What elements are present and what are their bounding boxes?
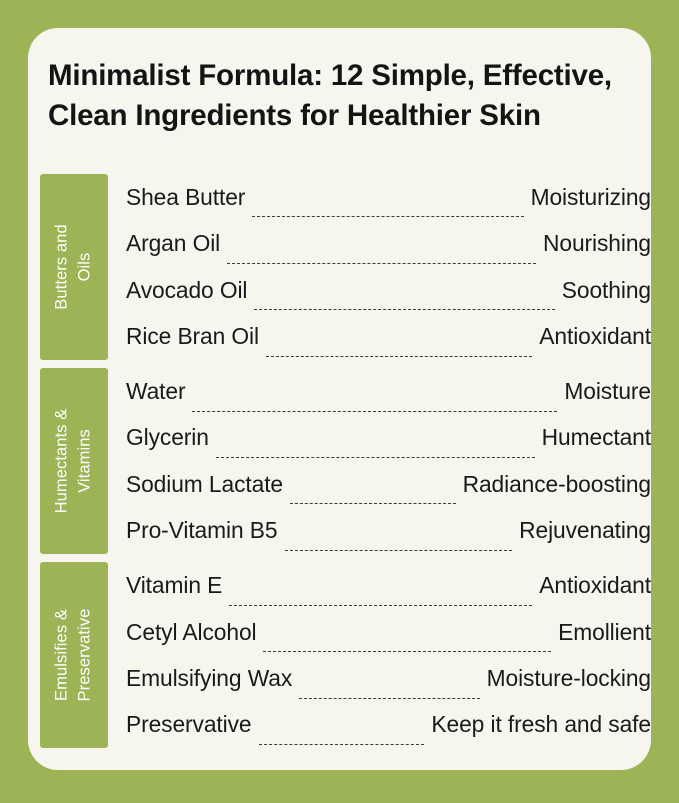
group-band-3: Emulsifies &Preservative <box>40 562 108 748</box>
ingredient-benefit: Moisture-locking <box>487 667 651 690</box>
ingredient-row: Argan OilNourishing <box>126 220 651 266</box>
ingredient-group: Emulsifies &PreservativeVitamin EAntioxi… <box>28 562 651 748</box>
group-label-line: Vitamins <box>74 409 97 514</box>
ingredient-row: PreservativeKeep it fresh and safe <box>126 702 651 748</box>
ingredient-row: Vitamin EAntioxidant <box>126 562 651 608</box>
group-label: Humectants &Vitamins <box>51 409 98 514</box>
dotted-leader <box>229 587 532 609</box>
ingredient-row: Sodium LactateRadiance-boosting <box>126 461 651 507</box>
ingredient-name: Vitamin E <box>126 574 222 597</box>
ingredient-benefit: Antioxidant <box>539 574 651 597</box>
ingredient-benefit: Moisture <box>564 380 651 403</box>
ingredient-row: WaterMoisture <box>126 368 651 414</box>
ingredient-name: Sodium Lactate <box>126 473 283 496</box>
ingredient-rows: WaterMoistureGlycerinHumectantSodium Lac… <box>126 368 651 554</box>
ingredient-benefit: Keep it fresh and safe <box>431 713 651 736</box>
dotted-leader <box>227 245 536 267</box>
ingredient-row: GlycerinHumectant <box>126 415 651 461</box>
ingredient-row: Avocado OilSoothing <box>126 267 651 313</box>
ingredient-groups: Butters andOilsShea ButterMoisturizingAr… <box>28 174 651 770</box>
ingredient-benefit: Rejuvenating <box>519 519 651 542</box>
ingredient-name: Avocado Oil <box>126 279 247 302</box>
ingredient-name: Water <box>126 380 185 403</box>
ingredient-rows: Shea ButterMoisturizingArgan OilNourishi… <box>126 174 651 360</box>
ingredient-benefit: Humectant <box>542 426 651 449</box>
dotted-leader <box>285 532 513 554</box>
group-label-line: Oils <box>74 224 97 310</box>
ingredient-name: Emulsifying Wax <box>126 667 292 690</box>
ingredient-row: Shea ButterMoisturizing <box>126 174 651 220</box>
ingredient-name: Glycerin <box>126 426 209 449</box>
dotted-leader <box>290 485 456 507</box>
ingredient-row: Cetyl AlcoholEmollient <box>126 609 651 655</box>
group-label-line: Humectants & <box>51 409 74 514</box>
ingredient-benefit: Emollient <box>558 621 651 644</box>
ingredient-name: Pro-Vitamin B5 <box>126 519 278 542</box>
dotted-leader <box>192 393 557 415</box>
ingredient-row: Emulsifying WaxMoisture-locking <box>126 655 651 701</box>
dotted-leader <box>266 338 532 360</box>
ingredient-row: Rice Bran OilAntioxidant <box>126 313 651 359</box>
ingredient-benefit: Antioxidant <box>539 325 651 348</box>
group-label-line: Emulsifies & <box>51 609 74 702</box>
dotted-leader <box>252 198 523 220</box>
ingredient-name: Cetyl Alcohol <box>126 621 256 644</box>
ingredient-group: Butters andOilsShea ButterMoisturizingAr… <box>28 174 651 360</box>
page-title: Minimalist Formula: 12 Simple, Effective… <box>48 56 636 135</box>
infographic-card: Minimalist Formula: 12 Simple, Effective… <box>28 28 651 770</box>
ingredient-rows: Vitamin EAntioxidantCetyl AlcoholEmollie… <box>126 562 651 748</box>
dotted-leader <box>263 633 551 655</box>
ingredient-benefit: Radiance-boosting <box>463 473 651 496</box>
group-label: Emulsifies &Preservative <box>51 609 98 702</box>
ingredient-name: Argan Oil <box>126 232 220 255</box>
ingredient-benefit: Moisturizing <box>531 186 651 209</box>
ingredient-benefit: Soothing <box>562 279 651 302</box>
dotted-leader <box>259 726 425 748</box>
ingredient-group: Humectants &VitaminsWaterMoistureGlyceri… <box>28 368 651 554</box>
ingredient-name: Shea Butter <box>126 186 245 209</box>
group-band-1: Butters andOils <box>40 174 108 360</box>
ingredient-name: Rice Bran Oil <box>126 325 259 348</box>
group-band-2: Humectants &Vitamins <box>40 368 108 554</box>
ingredient-row: Pro-Vitamin B5Rejuvenating <box>126 507 651 553</box>
dotted-leader <box>254 291 554 313</box>
ingredient-name: Preservative <box>126 713 252 736</box>
dotted-leader <box>216 439 535 461</box>
ingredient-benefit: Nourishing <box>543 232 651 255</box>
group-label-line: Butters and <box>51 224 74 310</box>
dotted-leader <box>299 680 479 702</box>
group-label-line: Preservative <box>74 609 97 702</box>
group-label: Butters andOils <box>51 224 98 310</box>
